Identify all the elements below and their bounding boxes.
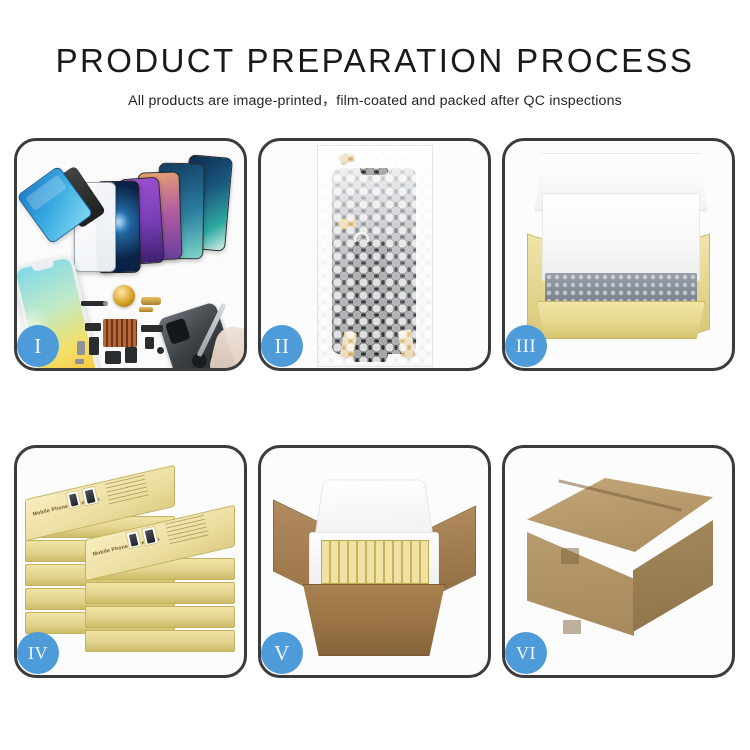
spare-part bbox=[85, 323, 101, 331]
process-step-grid: I bbox=[14, 138, 736, 678]
process-step-1: I bbox=[14, 138, 247, 371]
step-numeral: I bbox=[34, 336, 42, 357]
carton-tape bbox=[561, 548, 579, 564]
spare-part bbox=[105, 351, 121, 364]
stacked-box bbox=[85, 630, 235, 652]
chip-grid-part bbox=[103, 319, 137, 347]
yellow-boxes-inside bbox=[321, 540, 429, 584]
process-step-6: VI bbox=[502, 445, 735, 678]
step-badge-3: III bbox=[505, 325, 547, 367]
process-step-3: III bbox=[502, 138, 735, 371]
step-badge-2: II bbox=[261, 325, 303, 367]
stacked-box bbox=[85, 606, 235, 628]
step-numeral: II bbox=[275, 336, 290, 357]
step-badge-5: V bbox=[261, 632, 303, 674]
page-subtitle: All products are image-printed，film-coat… bbox=[0, 90, 750, 110]
spare-part bbox=[145, 337, 154, 349]
spare-part bbox=[125, 347, 137, 363]
process-step-4: Mobile Phone Spare Parts Mobile Phone Sp… bbox=[14, 445, 247, 678]
spare-part bbox=[103, 301, 108, 306]
spare-part bbox=[141, 297, 161, 305]
spare-part bbox=[139, 307, 153, 312]
step-badge-4: IV bbox=[17, 632, 59, 674]
styrofoam-lid bbox=[314, 480, 434, 540]
process-step-5: V bbox=[258, 445, 491, 678]
box-stack: Mobile Phone Spare Parts Mobile Phone Sp… bbox=[23, 466, 244, 666]
white-foam-sheet bbox=[542, 193, 700, 281]
page-title: PRODUCT PREPARATION PROCESS bbox=[0, 44, 750, 79]
step-badge-1: I bbox=[17, 325, 59, 367]
product-preparation-infographic: PRODUCT PREPARATION PROCESS All products… bbox=[0, 0, 750, 750]
gold-coil-part bbox=[113, 285, 135, 307]
carton-tape bbox=[563, 620, 581, 634]
spare-part bbox=[77, 341, 85, 355]
spare-part bbox=[157, 347, 164, 354]
box-front-panel bbox=[537, 301, 705, 339]
carton-body bbox=[303, 584, 445, 656]
bubble-texture bbox=[318, 146, 432, 366]
spare-part bbox=[75, 359, 84, 364]
header: PRODUCT PREPARATION PROCESS All products… bbox=[0, 0, 750, 110]
spare-part bbox=[141, 325, 163, 332]
step-numeral: III bbox=[516, 337, 536, 356]
stacked-box bbox=[85, 582, 235, 604]
step-badge-6: VI bbox=[505, 632, 547, 674]
spare-part bbox=[89, 337, 99, 355]
step-numeral: V bbox=[274, 643, 290, 664]
process-step-2: II bbox=[258, 138, 491, 371]
bubble-wrap-bag bbox=[317, 145, 433, 367]
step-numeral: VI bbox=[516, 644, 536, 662]
step-numeral: IV bbox=[28, 644, 48, 662]
grey-bubble-padding bbox=[545, 273, 697, 305]
